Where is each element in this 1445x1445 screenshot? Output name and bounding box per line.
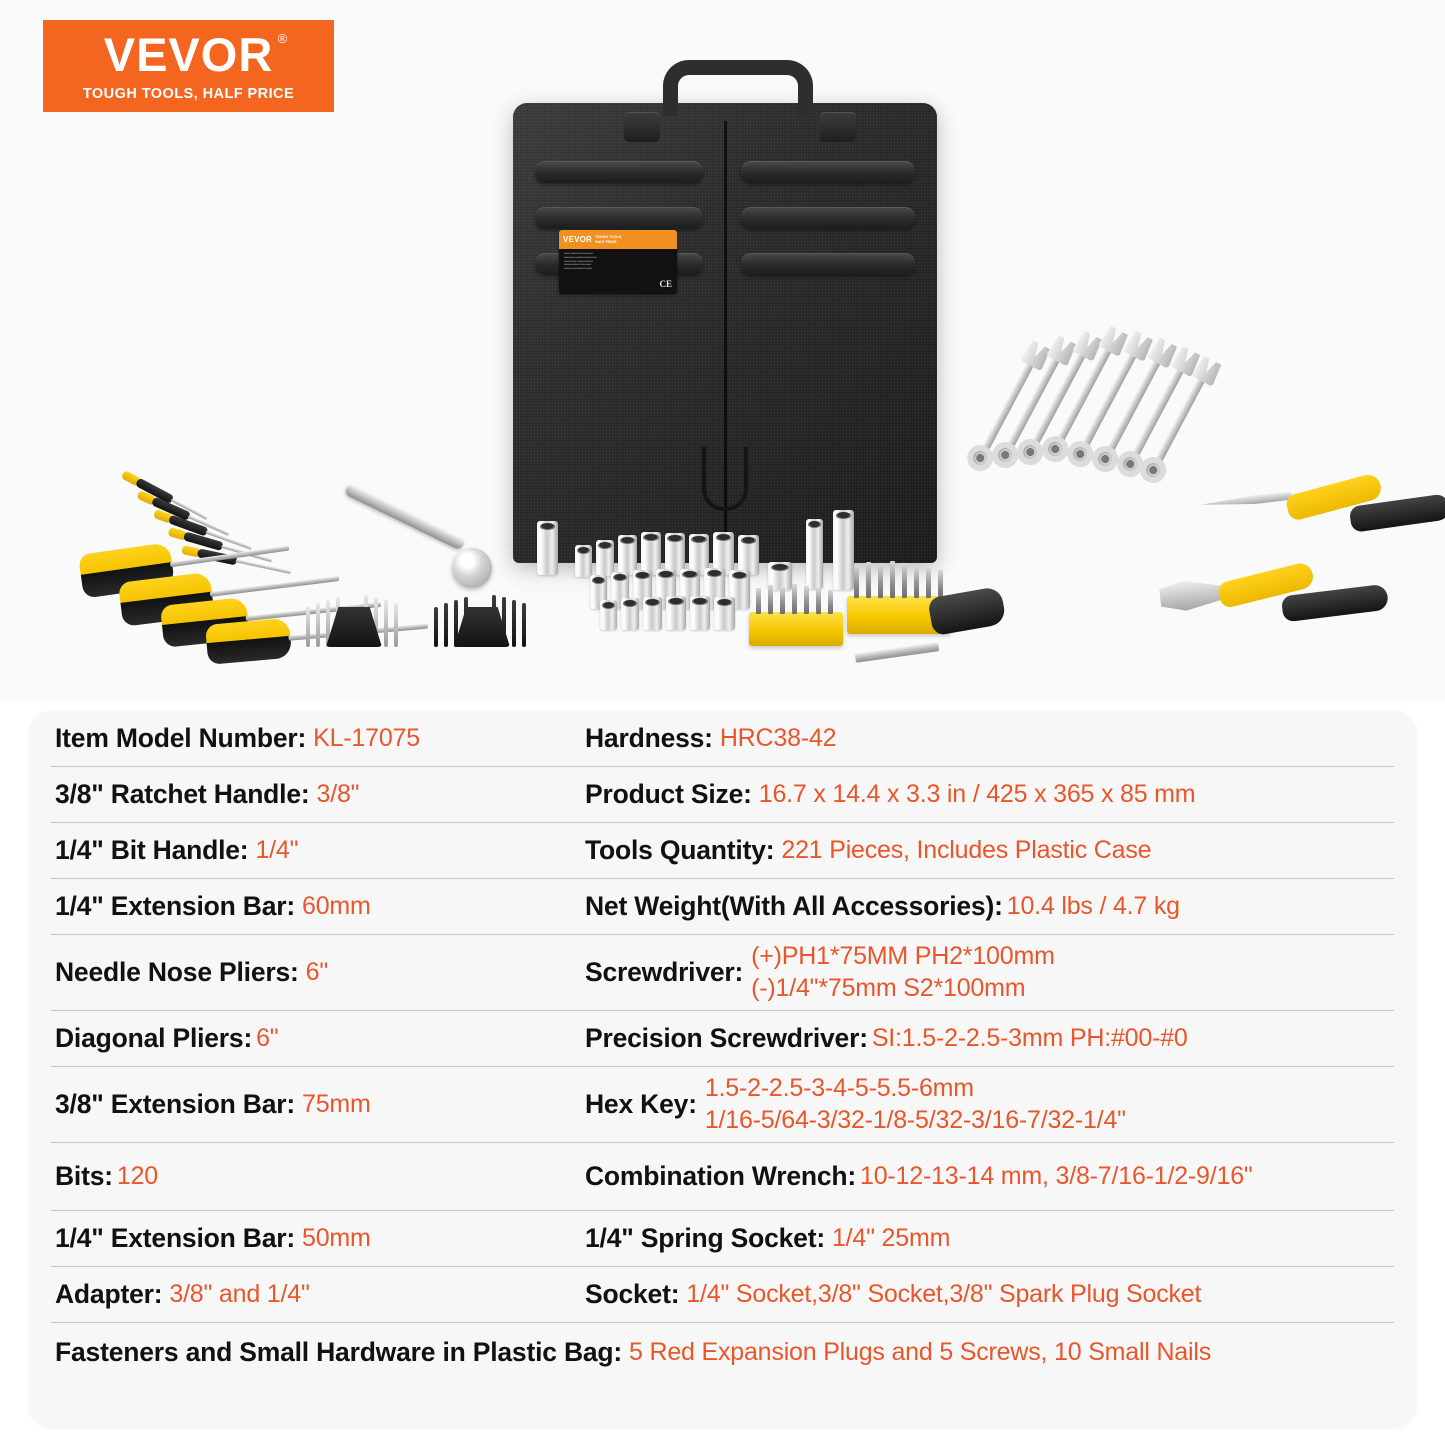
spec-value: HRC38-42 [720,724,837,753]
spec-value-multiline: 1.5-2-2.5-3-4-5-5.5-6mm 1/16-5/64-3/32-1… [705,1074,1126,1135]
spec-label: 3/8" Ratchet Handle: [55,779,310,810]
spec-label: 1/4" Extension Bar: [55,891,295,922]
spec-row-quarter-extension-bar-60: 1/4" Extension Bar: 60mm [51,879,581,935]
spec-row-screwdriver: Screwdriver: (+)PH1*75MM PH2*100mm (-)1/… [581,935,1394,1011]
spec-value: 6" [256,1024,278,1053]
spec-label: Diagonal Pliers: [55,1023,252,1054]
spec-row-bit-handle: 1/4" Bit Handle: 1/4" [51,823,581,879]
case-label-brand: VEVOR [563,235,592,244]
spec-row-tools-quantity: Tools Quantity: 221 Pieces, Includes Pla… [581,823,1394,879]
spec-label: Product Size: [585,779,752,810]
spec-row-spring-socket: 1/4" Spring Socket: 1/4" 25mm [581,1211,1394,1267]
spec-label: Screwdriver: [585,957,743,988]
spec-label: Adapter: [55,1279,162,1310]
spec-value: 1/4" [255,836,298,865]
spec-label: Precision Screwdriver: [585,1023,868,1054]
specifications-grid: Item Model Number: KL-17075 Hardness: HR… [51,711,1394,1323]
spec-value-multiline: (+)PH1*75MM PH2*100mm (-)1/4"*75mm S2*10… [751,942,1055,1003]
spec-row-combination-wrench: Combination Wrench: 10-12-13-14 mm, 3/8-… [581,1143,1394,1211]
spec-row-precision-screwdriver: Precision Screwdriver: SI:1.5-2-2.5-3mm … [581,1011,1394,1067]
spec-label: 1/4" Spring Socket: [585,1223,825,1254]
logo-wordmark: VEVOR® [104,32,274,78]
spec-value: 221 Pieces, Includes Plastic Case [781,836,1151,865]
spec-value: 10.4 lbs / 4.7 kg [1007,892,1180,921]
vevor-logo: VEVOR® TOUGH TOOLS, HALF PRICE [43,20,334,112]
spec-value: 5 Red Expansion Plugs and 5 Screws, 10 S… [629,1338,1211,1367]
spec-label: Hardness: [585,723,713,754]
spec-label: Item Model Number: [55,723,306,754]
spec-value: SI:1.5-2-2.5-3mm PH:#00-#0 [872,1024,1188,1053]
spec-label: 3/8" Extension Bar: [55,1089,295,1120]
specifications-panel: Item Model Number: KL-17075 Hardness: HR… [29,711,1416,1427]
spec-value: 1/4" 25mm [832,1224,950,1253]
case-label-fineprint: ▪▪▪▪▪▪▪ ▪▪▪▪▪▪▪▪▪▪ ▪▪▪▪▪▪▪▪▪▪▪▪▪▪ ▪▪▪▪▪▪… [559,249,677,274]
spec-value: 1/4" Socket,3/8" Socket,3/8" Spark Plug … [686,1280,1201,1309]
case-latch-left [624,112,660,142]
spec-label: 1/4" Bit Handle: [55,835,248,866]
case-info-label: VEVOR TOUGH TOOLS, HALF PRICE ▪▪▪▪▪▪▪ ▪▪… [559,230,677,294]
registered-trademark-icon: ® [278,33,289,46]
spec-row-net-weight: Net Weight (With All Accessories): 10.4 … [581,879,1394,935]
spec-row-diagonal-pliers: Diagonal Pliers: 6" [51,1011,581,1067]
spec-value: 3/8" [317,780,360,809]
spec-label: Combination Wrench: [585,1161,856,1192]
spec-row-three-eighths-extension-bar: 3/8" Extension Bar: 75mm [51,1067,581,1143]
spec-label: 1/4" Extension Bar: [55,1223,295,1254]
spec-value-line: 1/16-5/64-3/32-1/8-5/32-3/16-7/32-1/4" [705,1106,1126,1135]
spec-value: 6" [306,958,328,987]
spec-row-quarter-extension-bar-50: 1/4" Extension Bar: 50mm [51,1211,581,1267]
spec-value-line: (-)1/4"*75mm S2*100mm [751,974,1055,1003]
spec-label: Hex Key: [585,1089,697,1120]
spec-value: 60mm [302,892,371,921]
spec-row-product-size: Product Size: 16.7 x 14.4 x 3.3 in / 425… [581,767,1394,823]
spec-row-socket: Socket: 1/4" Socket,3/8" Socket,3/8" Spa… [581,1267,1394,1323]
spec-row-item-model-number: Item Model Number: KL-17075 [51,711,581,767]
spec-row-hex-key: Hex Key: 1.5-2-2.5-3-4-5-5.5-6mm 1/16-5/… [581,1067,1394,1143]
case-latch-right [820,112,856,142]
spec-row-adapter: Adapter: 3/8" and 1/4" [51,1267,581,1323]
spec-label: Socket: [585,1279,679,1310]
spec-label: Tools Quantity: [585,835,774,866]
spec-value-line: (+)PH1*75MM PH2*100mm [751,942,1055,971]
case-carry-handle [663,60,813,116]
spec-row-fasteners-and-small-hardware: Fasteners and Small Hardware in Plastic … [51,1323,1394,1381]
spec-label-note: (With All Accessories): [721,891,1003,922]
spec-value: 120 [117,1162,158,1191]
spec-value: 50mm [302,1224,371,1253]
spec-label: Bits: [55,1161,113,1192]
spec-row-ratchet-handle: 3/8" Ratchet Handle: 3/8" [51,767,581,823]
tool-case [513,103,937,563]
logo-tagline: TOUGH TOOLS, HALF PRICE [83,86,294,102]
spec-label: Net Weight [585,891,721,922]
spec-value: 3/8" and 1/4" [169,1280,309,1309]
spark-plug-socket [537,521,558,575]
spec-value: KL-17075 [313,724,420,753]
spec-label: Needle Nose Pliers: [55,957,299,988]
spec-row-hardness: Hardness: HRC38-42 [581,711,1394,767]
spec-value: 75mm [302,1090,371,1119]
spec-row-bits: Bits: 120 [51,1143,581,1211]
spec-value: 10-12-13-14 mm, 3/8-7/16-1/2-9/16" [860,1162,1253,1191]
spec-label: Fasteners and Small Hardware in Plastic … [55,1337,622,1368]
ce-mark-icon: CE [659,279,672,289]
spec-row-needle-nose-pliers: Needle Nose Pliers: 6" [51,935,581,1011]
spec-value: 16.7 x 14.4 x 3.3 in / 425 x 365 x 85 mm [759,780,1196,809]
spec-value-line: 1.5-2-2.5-3-4-5-5.5-6mm [705,1074,1126,1103]
case-label-tagline: TOUGH TOOLS, HALF PRICE [595,235,622,243]
